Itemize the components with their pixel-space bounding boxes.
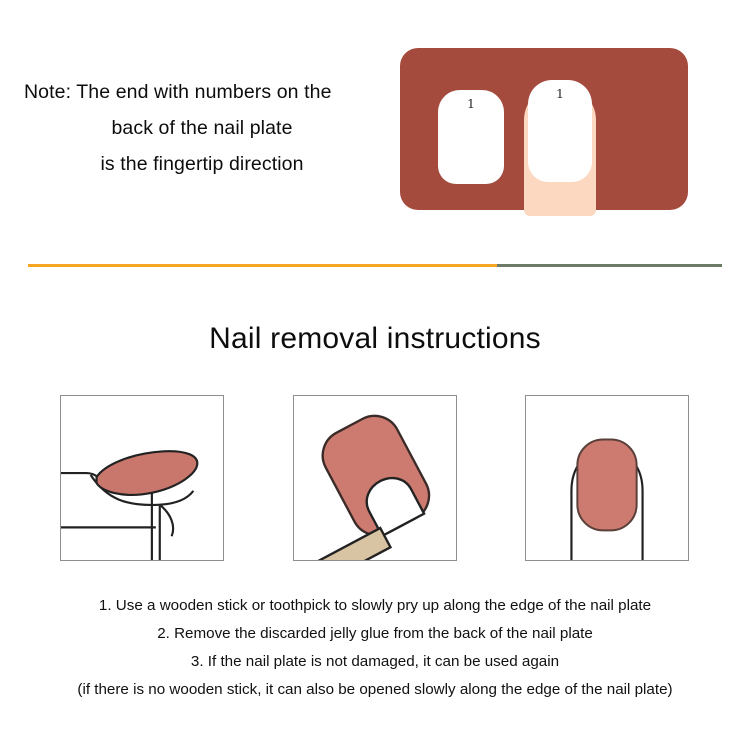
instruction-list: 1. Use a wooden stick or toothpick to sl… [0, 592, 750, 704]
nail-number-label-1: 1 [438, 96, 504, 111]
nail-sticker-on-finger: 1 [528, 80, 592, 182]
nail-sticker-detached: 1 [438, 90, 504, 184]
note-section: Note: The end with numbers on the back o… [0, 0, 750, 250]
instruction-line-4: (if there is no wooden stick, it can als… [0, 676, 750, 704]
note-text-block: Note: The end with numbers on the back o… [12, 74, 392, 182]
instruction-line-2: 2. Remove the discarded jelly glue from … [0, 620, 750, 648]
nail-number-label-2: 1 [528, 86, 592, 101]
page-title: Nail removal instructions [0, 322, 750, 356]
divider-segment-orange [28, 264, 497, 267]
step-illustration-row [0, 395, 750, 563]
sticker-backing-plate: 1 1 [400, 48, 688, 210]
note-line-1: Note: The end with numbers on the [12, 74, 392, 110]
section-divider [28, 264, 722, 267]
divider-segment-green [497, 264, 722, 267]
step-illustration-nail-on-finger [525, 395, 689, 561]
note-line-3: is the fingertip direction [12, 146, 392, 182]
instruction-line-3: 3. If the nail plate is not damaged, it … [0, 648, 750, 676]
step-illustration-pry-side-view [60, 395, 224, 561]
note-line-2: back of the nail plate [12, 110, 392, 146]
nail-sticker-illustration: 1 1 [400, 48, 688, 216]
step-illustration-wooden-stick [293, 395, 457, 561]
instruction-line-1: 1. Use a wooden stick or toothpick to sl… [0, 592, 750, 620]
